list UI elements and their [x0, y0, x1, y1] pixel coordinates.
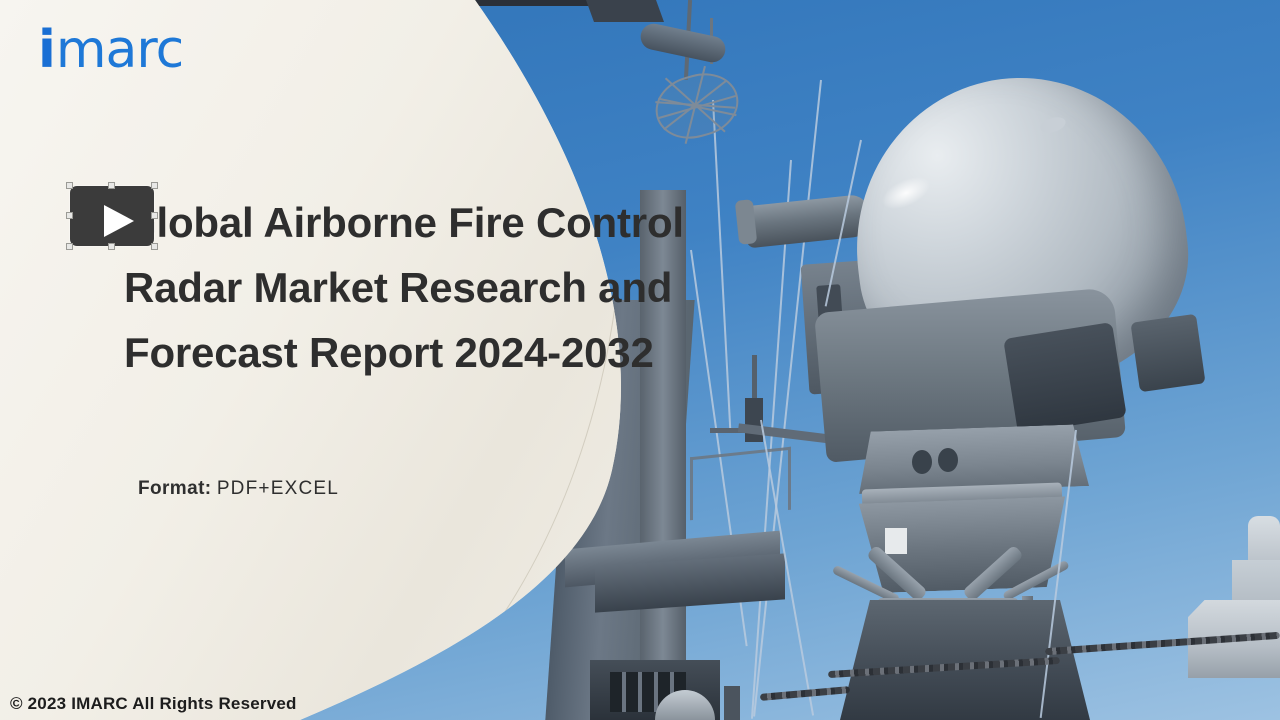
radar-turret-panel [1130, 314, 1205, 393]
presentation-slide: imarc Global Airborne Fire Control Radar… [0, 0, 1280, 720]
format-label: Format: [138, 478, 212, 499]
logo-letter-i: i [38, 24, 56, 76]
resize-handle-middle-left[interactable] [66, 212, 73, 219]
resize-handle-bottom-center[interactable] [108, 243, 115, 250]
pedestal-name-plate [885, 528, 907, 554]
video-placeholder[interactable] [66, 182, 158, 250]
resize-handle-top-center[interactable] [108, 182, 115, 189]
deck-post [724, 686, 740, 720]
logo-letters-marc: marc [56, 24, 183, 76]
radar-turret-panel [1003, 322, 1127, 434]
pedestal-vent-hole [912, 450, 932, 474]
format-value: PDF+EXCEL [217, 478, 339, 499]
page-title: Global Airborne Fire Control Radar Marke… [124, 190, 684, 385]
resize-handle-middle-right[interactable] [151, 212, 158, 219]
imarc-logo[interactable]: imarc [38, 22, 183, 76]
resize-handle-bottom-left[interactable] [66, 243, 73, 250]
resize-handle-top-left[interactable] [66, 182, 73, 189]
play-icon[interactable] [104, 205, 134, 237]
resize-handle-top-right[interactable] [151, 182, 158, 189]
pedestal-vent-hole [938, 448, 958, 472]
copyright-notice: © 2023 IMARC All Rights Reserved [10, 694, 297, 714]
format-line: Format: PDF+EXCEL [138, 478, 339, 500]
mast-top-strip [586, 0, 664, 22]
video-frame[interactable] [70, 186, 154, 246]
resize-handle-bottom-right[interactable] [151, 243, 158, 250]
